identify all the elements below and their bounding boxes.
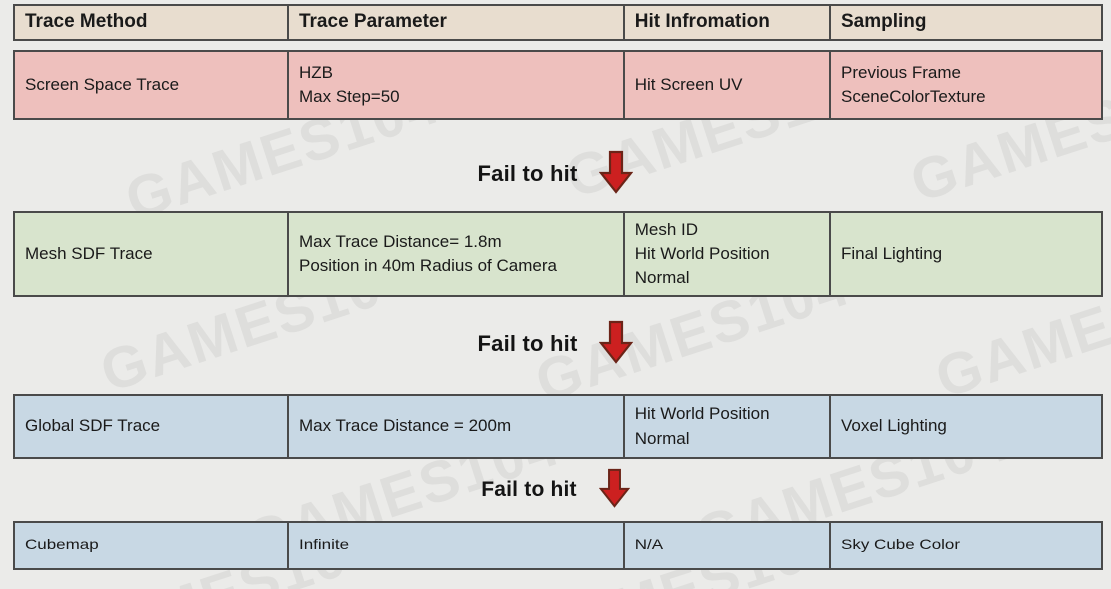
cell-text: Final Lighting <box>841 242 1091 266</box>
cell-text: Position in 40m Radius of Camera <box>299 254 613 278</box>
cell-text: Mesh SDF Trace <box>25 242 277 266</box>
cell-trace-method: Screen Space Trace <box>15 52 289 118</box>
cell-text: Voxel Lighting <box>841 414 1091 438</box>
cell-trace-method: Global SDF Trace <box>15 396 289 457</box>
cell-text: SceneColorTexture <box>841 85 1091 109</box>
cell-sampling: Final Lighting <box>831 213 1101 295</box>
cell-text: Mesh ID <box>635 218 819 242</box>
cell-text: Max Trace Distance= 1.8m <box>299 230 613 254</box>
cell-text: Max Step=50 <box>299 85 613 109</box>
cell-hit-information: Hit World Position Normal <box>625 396 831 457</box>
fail-to-hit-connector: Fail to hit <box>0 468 1111 512</box>
cell-text: Hit World Position <box>635 402 819 426</box>
table-row: Screen Space Trace HZB Max Step=50 Hit S… <box>13 50 1103 120</box>
cell-trace-method: Mesh SDF Trace <box>15 213 289 295</box>
column-header-label: Sampling <box>841 9 1091 36</box>
cell-trace-parameter: Max Trace Distance= 1.8m Position in 40m… <box>289 213 625 295</box>
cell-trace-parameter: Infinite <box>289 523 625 568</box>
column-header-sampling: Sampling <box>831 6 1101 39</box>
column-header-trace-method: Trace Method <box>15 6 289 39</box>
trace-method-table: Trace Method Trace Parameter Hit Infroma… <box>0 0 1111 589</box>
fail-to-hit-label: Fail to hit <box>478 161 578 187</box>
cell-text: Previous Frame <box>841 61 1091 85</box>
cell-text: Hit Screen UV <box>635 73 819 97</box>
column-header-trace-parameter: Trace Parameter <box>289 6 625 39</box>
table-row: Mesh SDF Trace Max Trace Distance= 1.8m … <box>13 211 1103 297</box>
cell-text: Screen Space Trace <box>25 73 277 97</box>
cell-sampling: Previous Frame SceneColorTexture <box>831 52 1101 118</box>
cell-text: Cubemap <box>25 536 277 556</box>
down-arrow-icon <box>599 150 633 199</box>
fail-to-hit-label: Fail to hit <box>478 331 578 357</box>
cell-text: Normal <box>635 266 819 290</box>
cell-trace-method: Cubemap <box>15 523 289 568</box>
cell-trace-parameter: Max Trace Distance = 200m <box>289 396 625 457</box>
cell-sampling: Voxel Lighting <box>831 396 1101 457</box>
fail-to-hit-label: Fail to hit <box>481 478 577 502</box>
table-row: Cubemap Infinite N/A Sky Cube Color <box>13 521 1103 570</box>
column-header-hit-information: Hit Infromation <box>625 6 831 39</box>
column-header-label: Hit Infromation <box>635 9 819 36</box>
column-header-label: Trace Method <box>25 9 277 36</box>
cell-text: N/A <box>635 536 819 556</box>
cell-hit-information: Hit Screen UV <box>625 52 831 118</box>
cell-text: Infinite <box>299 536 613 556</box>
down-arrow-icon <box>599 320 633 369</box>
cell-text: Normal <box>635 427 819 451</box>
cell-text: Hit World Position <box>635 242 819 266</box>
cell-text: Sky Cube Color <box>841 536 1091 556</box>
fail-to-hit-connector: Fail to hit <box>0 150 1111 198</box>
cell-text: Max Trace Distance = 200m <box>299 414 613 438</box>
table-row: Global SDF Trace Max Trace Distance = 20… <box>13 394 1103 459</box>
cell-hit-information: Mesh ID Hit World Position Normal <box>625 213 831 295</box>
down-arrow-icon <box>599 468 630 513</box>
cell-text: Global SDF Trace <box>25 414 277 438</box>
column-header-label: Trace Parameter <box>299 9 613 36</box>
fail-to-hit-connector: Fail to hit <box>0 320 1111 368</box>
cell-sampling: Sky Cube Color <box>831 523 1101 568</box>
cell-hit-information: N/A <box>625 523 831 568</box>
table-header-row: Trace Method Trace Parameter Hit Infroma… <box>13 4 1103 41</box>
cell-text: HZB <box>299 61 613 85</box>
cell-trace-parameter: HZB Max Step=50 <box>289 52 625 118</box>
